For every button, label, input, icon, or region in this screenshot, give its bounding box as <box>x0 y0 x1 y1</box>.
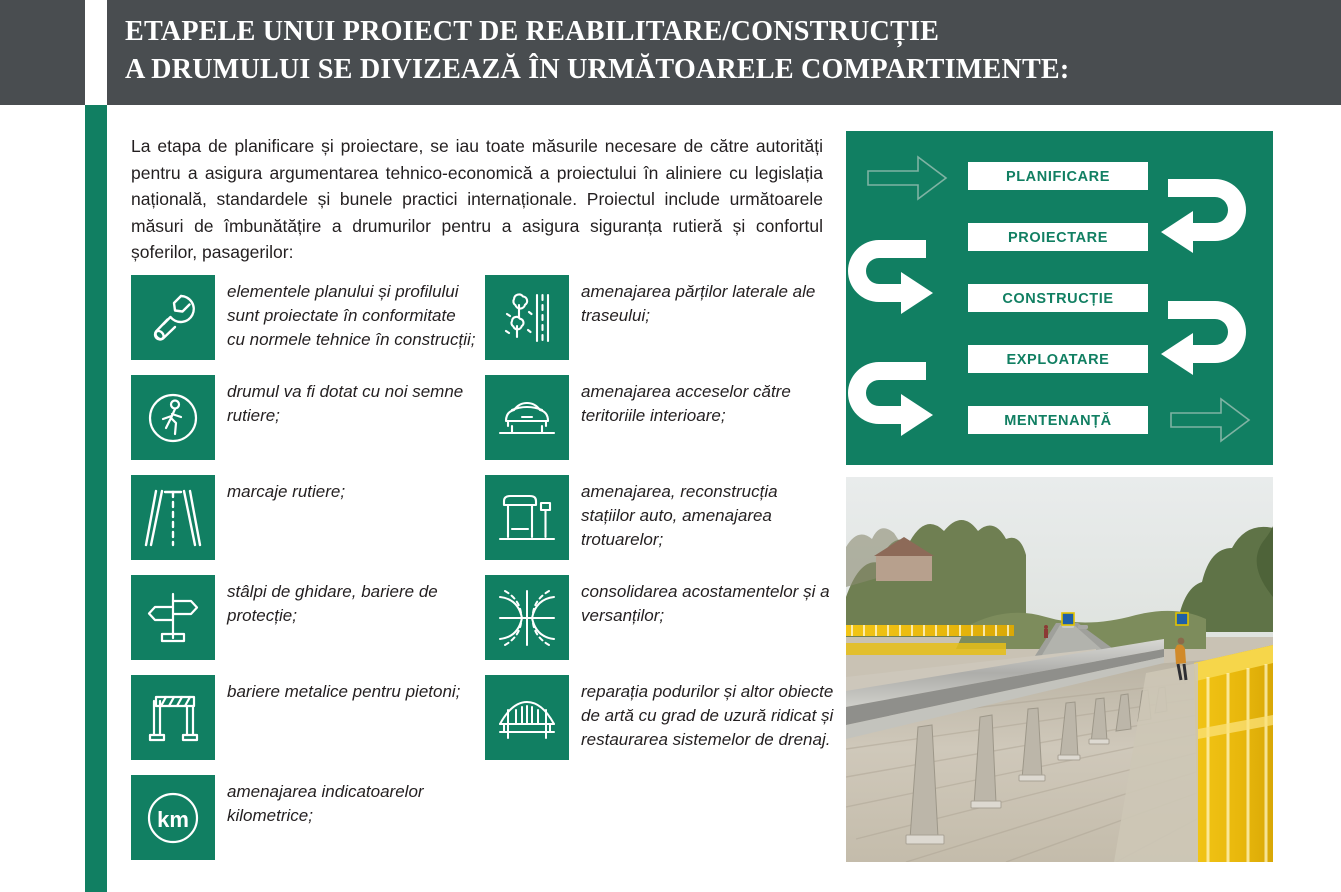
list-item: reparația podurilor și altor obiecte de … <box>485 675 835 760</box>
stage-label: MENTENANȚĂ <box>1004 412 1112 429</box>
signpost-icon <box>131 575 215 660</box>
stage-label: EXPLOATARE <box>1007 352 1110 368</box>
list-item: stâlpi de ghidare, bariere de protecție; <box>131 575 476 660</box>
list-item-label: consolidarea acostamentelor și a versanț… <box>569 575 835 628</box>
list-item: elementele planului și profilului sunt p… <box>131 275 476 360</box>
stage-label: PROIECTARE <box>1008 230 1108 246</box>
list-item: consolidarea acostamentelor și a versanț… <box>485 575 835 660</box>
list-item-label: elementele planului și profilului sunt p… <box>215 275 476 352</box>
bus-stop-icon <box>485 475 569 560</box>
km-marker-icon: km <box>131 775 215 860</box>
pedestrian-barrier-icon <box>131 675 215 760</box>
wrench-icon <box>131 275 215 360</box>
left-green-accent-strip <box>85 105 107 892</box>
list-item-label: stâlpi de ghidare, bariere de protecție; <box>215 575 476 628</box>
list-item: km amenajarea indicatoarelor kilometrice… <box>131 775 476 860</box>
list-item-label: amenajarea acceselor către teritoriile i… <box>569 375 835 428</box>
measures-list-left: elementele planului și profilului sunt p… <box>131 275 476 875</box>
uturn-arrow-left-icon <box>1161 179 1246 253</box>
header-white-accent-strip <box>85 0 107 105</box>
bridge-photo <box>846 477 1273 862</box>
page-title: ETAPELE UNUI PROIECT DE REABILITARE/CONS… <box>125 12 1270 88</box>
car-access-icon <box>485 375 569 460</box>
roadside-trees-icon <box>485 275 569 360</box>
road-marking-icon <box>131 475 215 560</box>
list-item: amenajarea, reconstrucția stațiilor auto… <box>485 475 835 560</box>
list-item: bariere metalice pentru pietoni; <box>131 675 476 760</box>
list-item-label: reparația podurilor și altor obiecte de … <box>569 675 835 752</box>
intro-paragraph: La etapa de planificare și proiectare, s… <box>131 133 823 266</box>
list-item: drumul va fi dotat cu noi semne rutiere; <box>131 375 476 460</box>
interchange-icon <box>485 575 569 660</box>
entry-arrow-icon <box>868 157 946 199</box>
stage-label: CONSTRUCȚIE <box>1002 291 1113 307</box>
list-item: amenajarea acceselor către teritoriile i… <box>485 375 835 460</box>
list-item-label: drumul va fi dotat cu noi semne rutiere; <box>215 375 476 428</box>
svg-text:km: km <box>157 807 189 832</box>
list-item: amenajarea părților laterale ale traseul… <box>485 275 835 360</box>
uturn-arrow-right-icon <box>848 240 933 314</box>
stage-label: PLANIFICARE <box>1006 169 1110 185</box>
list-item-label: marcaje rutiere; <box>215 475 476 504</box>
header-bar: ETAPELE UNUI PROIECT DE REABILITARE/CONS… <box>0 0 1341 105</box>
list-item-label: amenajarea părților laterale ale traseul… <box>569 275 835 328</box>
project-stages-flow-diagram: PLANIFICARE PROIECTARE CONSTRUCȚIE EXPLO… <box>846 131 1273 465</box>
list-item: marcaje rutiere; <box>131 475 476 560</box>
list-item-label: amenajarea, reconstrucția stațiilor auto… <box>569 475 835 552</box>
uturn-arrow-left-icon <box>1161 301 1246 375</box>
exit-arrow-icon <box>1171 399 1249 441</box>
uturn-arrow-right-icon <box>848 362 933 436</box>
bridge-icon <box>485 675 569 760</box>
list-item-label: amenajarea indicatoarelor kilometrice; <box>215 775 476 828</box>
pedestrian-sign-icon <box>131 375 215 460</box>
list-item-label: bariere metalice pentru pietoni; <box>215 675 476 704</box>
measures-list-right: amenajarea părților laterale ale traseul… <box>485 275 835 775</box>
